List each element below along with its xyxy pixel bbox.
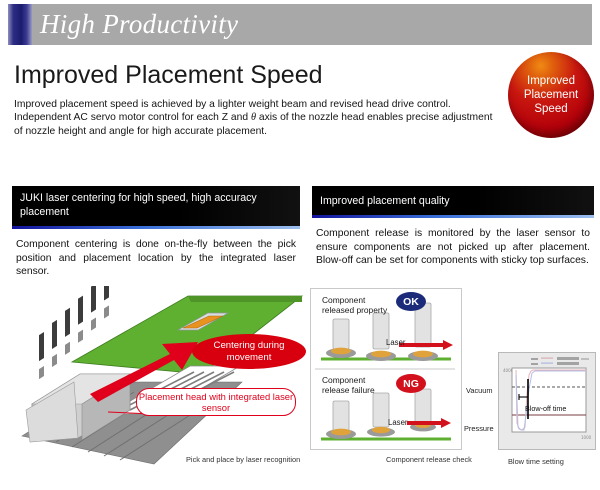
figure-pick-and-place [12, 286, 304, 476]
laser-label-ng: Laser [388, 418, 408, 427]
badge-text: Improved Placement Speed [524, 74, 578, 116]
pcb-edge [188, 296, 302, 302]
label-vacuum: Vacuum [466, 386, 493, 395]
ok-component-chip-3 [413, 351, 433, 358]
laser-label-ok: Laser [386, 338, 406, 347]
ok-nozzle-1 [333, 319, 349, 349]
chart-legend [531, 357, 589, 365]
ng-component-chip-1 [331, 429, 351, 436]
blow-time-chart: 4000 1000 [499, 353, 593, 447]
pick-place-illustration [12, 286, 304, 476]
caption-component-release-check: Component release check [386, 455, 472, 464]
label-pressure: Pressure [464, 424, 494, 433]
ok-badge: OK [396, 292, 426, 311]
label-blow-off-time: Blow-off time [525, 404, 566, 413]
header-accent-bar [8, 4, 32, 45]
nozzle-tips [39, 305, 109, 379]
ok-component-chip-2 [371, 351, 391, 358]
header-title: High Productivity [40, 8, 238, 40]
chart-plot-area [512, 368, 586, 432]
ng-badge: NG [396, 374, 426, 393]
badge-line-1: Improved [524, 74, 578, 88]
ng-component-chip-2 [372, 427, 390, 433]
panel-laser-centering: JUKI laser centering for high speed, hig… [12, 186, 300, 279]
badge-line-3: Speed [524, 102, 578, 116]
ng-nozzle-1 [333, 401, 349, 431]
figure-blow-time-setting: 4000 1000 [498, 352, 596, 450]
panel-left-body: Component centering is done on-the-fly b… [12, 229, 300, 279]
badge-line-2: Placement [524, 88, 578, 102]
callout-placement-head: Placement head with integrated laser sen… [136, 388, 296, 416]
panel-left-heading: JUKI laser centering for high speed, hig… [12, 186, 300, 229]
ng-nozzle-3 [415, 389, 431, 425]
chart-x-max-tick: 1000 [581, 435, 592, 440]
label-component-released-properly: Component released property [322, 295, 392, 315]
caption-blow-time-setting: Blow time setting [508, 457, 564, 466]
improved-placement-speed-badge: Improved Placement Speed [508, 52, 594, 138]
ok-component-chip-1 [331, 348, 351, 355]
head-front-plate [26, 382, 78, 442]
panel-right-heading: Improved placement quality [312, 186, 594, 218]
label-component-release-failure: Component release failure [322, 375, 392, 395]
ng-nozzle-2 [373, 393, 389, 427]
page-title: Improved Placement Speed [14, 60, 323, 90]
panel-placement-quality: Improved placement quality Component rel… [312, 186, 594, 268]
caption-pick-and-place: Pick and place by laser recognition [186, 455, 300, 464]
callout-centering-during-movement: Centering during movement [192, 334, 306, 369]
intro-paragraph: Improved placement speed is achieved by … [14, 98, 494, 138]
panel-right-body: Component release is monitored by the la… [312, 218, 594, 268]
